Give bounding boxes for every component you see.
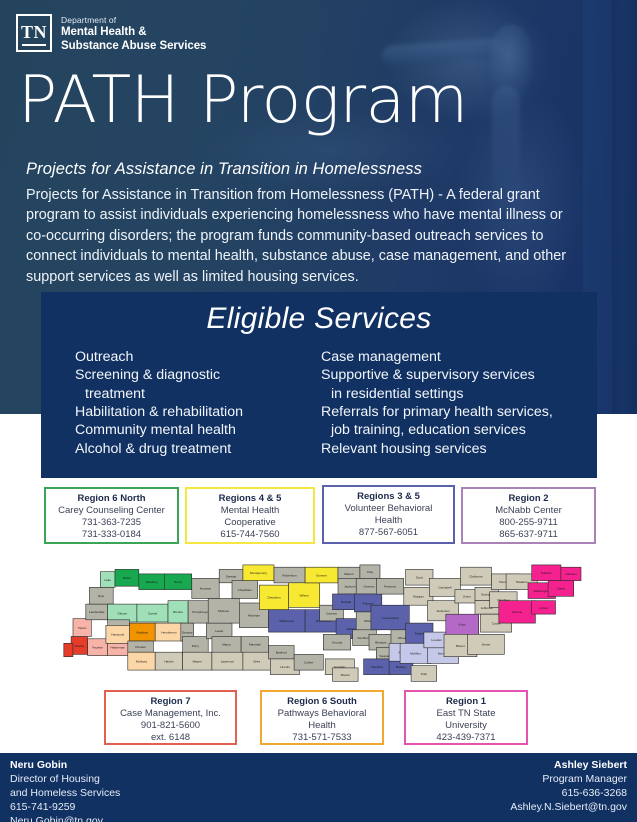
map-county-label: Claiborne <box>469 574 483 578</box>
map-county-label: Morgan <box>413 595 424 599</box>
map-county-label: Dyer <box>98 594 105 598</box>
provider-detail-line: Mental Health <box>187 505 313 517</box>
provider-detail-line: East TN State <box>406 708 526 720</box>
map-county-label: Tipton <box>78 626 87 630</box>
map-county-label: Cumberland <box>382 616 399 620</box>
provider-box[interactable]: Region 6 NorthCarey Counseling Center731… <box>44 487 179 544</box>
map-county-label: DeKalb <box>341 600 351 604</box>
map-county-label: Robertson <box>282 573 297 577</box>
map-county-label: Lawrence <box>221 660 235 664</box>
eligible-services-columns: OutreachScreening & diagnostictreatmentH… <box>41 336 597 458</box>
eligible-service-label: Screening & diagnostic <box>75 367 220 383</box>
map-county-label: Montgomery <box>250 571 268 575</box>
eligible-service-item: Supportive & supervisory servicesin resi… <box>321 366 597 403</box>
map-county-label: Sullivan <box>541 571 552 575</box>
map-county-label: Greene <box>512 610 523 614</box>
map-county-label: Chester <box>135 645 146 649</box>
contact-right-details: Program Manager615-636-3268Ashley.N.Sieb… <box>510 773 627 815</box>
map-county-label: Lauderdale <box>89 610 105 614</box>
map-county-label: Bradley <box>396 665 407 669</box>
eligible-service-item: Referrals for primary health services,jo… <box>321 403 597 440</box>
provider-detail-line: McNabb Center <box>463 505 594 517</box>
tn-mark-letters: TN <box>21 23 47 41</box>
eligible-service-label: Referrals for primary health services, <box>321 404 553 420</box>
map-county-label: Stewart <box>226 574 237 578</box>
map-county-label: Putnam <box>363 601 374 605</box>
provider-box[interactable]: Regions 4 & 5Mental HealthCooperative615… <box>185 487 315 544</box>
map-county-label: McNairy <box>136 660 148 664</box>
eligible-service-item: Community mental health <box>75 421 321 439</box>
eligible-service-item: Relevant housing services <box>321 440 597 458</box>
provider-region-name: Region 7 <box>106 696 235 708</box>
page-subtitle: Projects for Assistance in Transition in… <box>26 160 422 179</box>
map-county-label: Hickman <box>248 614 260 618</box>
map-county-label: Hardin <box>164 660 173 664</box>
map-county-label: Gibson <box>117 611 127 615</box>
contact-left-name: Neru Gobin <box>10 759 120 773</box>
map-county-label: Weakley <box>146 580 158 584</box>
map-county-label: Carroll <box>148 611 157 615</box>
eligible-service-label: Case management <box>321 349 441 365</box>
eligible-service-label: Supportive & supervisory services <box>321 367 535 383</box>
map-county-label: Madison <box>137 630 149 634</box>
map-county-label: Knox <box>459 623 467 627</box>
agency-logo: TN Department of Mental Health & Substan… <box>16 14 206 53</box>
map-county-label: Maury <box>222 643 231 647</box>
map-county-label: Union <box>463 595 471 599</box>
contact-left: Neru Gobin Director of Housingand Homele… <box>10 759 120 822</box>
map-county-label: Decatur <box>182 630 193 634</box>
provider-detail-line: Case Management, Inc. <box>106 708 235 720</box>
eligible-service-item: Screening & diagnostictreatment <box>75 366 321 403</box>
provider-region-name: Region 2 <box>463 493 594 505</box>
program-description: Projects for Assistance in Transition fr… <box>26 185 586 287</box>
map-county-label: Houston <box>200 587 212 591</box>
map-county-label: Macon <box>344 572 354 576</box>
provider-detail-line: Volunteer Behavioral <box>324 503 453 515</box>
provider-detail-line: ext. 6148 <box>106 732 235 744</box>
program-description-text: Projects for Assistance in Transition fr… <box>26 185 586 287</box>
map-county-label: Coffee <box>304 661 313 665</box>
map-county-label: Henry <box>174 580 183 584</box>
map-county-label: Obion <box>123 576 132 580</box>
map-county-label: Hawkins <box>516 580 528 584</box>
map-county-label: Polk <box>421 672 427 676</box>
provider-detail-line: 800-255-9711 <box>463 517 594 529</box>
map-county <box>64 643 73 656</box>
provider-box[interactable]: Region 7Case Management, Inc.901-821-560… <box>104 690 237 745</box>
contact-right: Ashley Siebert Program Manager615-636-32… <box>510 759 627 815</box>
map-county-label: Humphreys <box>192 610 208 614</box>
provider-region-name: Region 6 South <box>262 696 382 708</box>
map-county-label: Bedford <box>276 651 287 655</box>
provider-detail-line: 731-333-0184 <box>46 529 177 541</box>
page-title: PATH Program <box>18 68 468 133</box>
map-county-label: Henderson <box>161 630 176 634</box>
provider-detail-line: 877-567-6051 <box>324 527 453 539</box>
map-county-label: Williamson <box>279 619 294 623</box>
provider-detail-line: Pathways Behavioral <box>262 708 382 720</box>
map-county-label: Sumner <box>316 573 327 577</box>
map-county-label: Roane <box>415 632 424 636</box>
map-county-label: Dickson <box>218 609 229 613</box>
map-county-label: Shelby <box>75 644 85 648</box>
provider-detail-line: Carey Counseling Center <box>46 505 177 517</box>
contact-detail-line: Director of Housing <box>10 773 120 787</box>
map-county-label: Sevier <box>482 643 491 647</box>
tn-mark-underline <box>22 44 46 46</box>
map-county-label: Hardeman <box>110 646 125 650</box>
map-county-label: Perry <box>192 644 200 648</box>
eligible-service-label: Habilitation & rehabilitation <box>75 404 243 420</box>
map-county-label: Johnson <box>565 572 577 576</box>
eligible-service-label-continued: treatment <box>75 385 321 403</box>
eligible-service-label: Outreach <box>75 349 133 365</box>
contact-right-name: Ashley Siebert <box>510 759 627 773</box>
map-county-label: Scott <box>416 576 423 580</box>
provider-box[interactable]: Region 2McNabb Center800-255-9711865-637… <box>461 487 596 544</box>
eligible-service-label: Alcohol & drug treatment <box>75 441 231 457</box>
map-county-label: Carter <box>557 587 566 591</box>
contact-detail-line: and Homeless Services <box>10 787 120 801</box>
map-county-label: Davidson <box>268 596 281 600</box>
agency-name-block: Department of Mental Health & Substance … <box>61 14 206 53</box>
agency-dept-line: Department of <box>61 15 206 25</box>
eligible-services-heading: Eligible Services <box>41 292 597 336</box>
provider-box[interactable]: Region 1East TN StateUniversity423-439-7… <box>404 690 528 745</box>
provider-detail-line: 731-363-7235 <box>46 517 177 529</box>
map-county-label: Wayne <box>192 660 202 664</box>
eligible-service-item: Alcohol & drug treatment <box>75 440 321 458</box>
eligible-service-label: Community mental health <box>75 422 236 438</box>
eligible-services-right-column: Case managementSupportive & supervisory … <box>321 348 597 458</box>
eligible-service-item: Outreach <box>75 348 321 366</box>
map-county-label: Marion <box>341 673 351 677</box>
provider-detail-line: Cooperative <box>187 517 313 529</box>
map-county-label: Overton <box>363 585 374 589</box>
contact-detail-line: 615-636-3268 <box>510 787 627 801</box>
map-county-label: Haywood <box>111 633 124 637</box>
contact-left-details: Director of Housingand Homeless Services… <box>10 773 120 822</box>
map-county-label: Campbell <box>438 586 451 590</box>
map-county-label: Loudon <box>432 638 443 642</box>
provider-region-name: Regions 4 & 5 <box>187 493 313 505</box>
contact-detail-line: Neru.Gobin@tn.gov <box>10 815 120 822</box>
map-county-label: Benton <box>173 610 183 614</box>
agency-name-line-2: Substance Abuse Services <box>61 39 206 53</box>
provider-detail-line: 615-744-7560 <box>187 529 313 541</box>
agency-name-line-1: Mental Health & <box>61 25 206 39</box>
eligible-services-left-column: OutreachScreening & diagnostictreatmentH… <box>75 348 321 458</box>
map-county-label: Washington <box>534 589 551 593</box>
tn-state-mark-icon: TN <box>16 14 52 52</box>
provider-detail-line: University <box>406 720 526 732</box>
map-county-label: Hamilton <box>371 665 383 669</box>
map-county-label: Bledsoe <box>375 640 386 644</box>
eligible-service-item: Habilitation & rehabilitation <box>75 403 321 421</box>
map-county-label: Giles <box>253 660 261 664</box>
map-county-label: Marshall <box>249 643 261 647</box>
contact-detail-line: 615-741-9259 <box>10 801 120 815</box>
provider-detail-line: 423-439-7371 <box>406 732 526 744</box>
provider-box[interactable]: Regions 3 & 5Volunteer BehavioralHealth8… <box>322 485 455 544</box>
contact-detail-line: Program Manager <box>510 773 627 787</box>
map-county-label: Blount <box>456 644 465 648</box>
provider-region-name: Regions 3 & 5 <box>324 491 453 503</box>
tennessee-county-map: ShelbyFayetteHardemanTiptonLauderdaleDye… <box>60 552 590 684</box>
map-county-label: Cannon <box>326 611 337 615</box>
provider-detail-line: 865-637-9711 <box>463 529 594 541</box>
map-county-label: Cheatham <box>238 588 253 592</box>
eligible-services-panel: Eligible Services OutreachScreening & di… <box>41 292 597 478</box>
path-program-poster: TN Department of Mental Health & Substan… <box>0 0 637 822</box>
provider-detail-line: 731-571-7533 <box>262 732 382 744</box>
provider-detail-line: Health <box>324 515 453 527</box>
eligible-service-label-continued: job training, education services <box>321 421 597 439</box>
provider-region-name: Region 1 <box>406 696 526 708</box>
map-county-label: Lincoln <box>280 665 290 669</box>
contact-footer: Neru Gobin Director of Housingand Homele… <box>0 753 637 822</box>
map-county-label: Unicoi <box>539 606 548 610</box>
eligible-service-label: Relevant housing services <box>321 441 487 457</box>
map-county-label: McMinn <box>410 652 421 656</box>
provider-detail-line: Health <box>262 720 382 732</box>
eligible-service-label-continued: in residential settings <box>321 385 597 403</box>
map-county-label: Fentress <box>384 585 396 589</box>
map-county-label: Lake <box>104 578 111 582</box>
eligible-service-item: Case management <box>321 348 597 366</box>
map-county-label: Anderson <box>436 609 450 613</box>
map-county-label: Wilson <box>300 594 310 598</box>
map-county-label: Rhea <box>398 636 406 640</box>
map-county-label: Grundy <box>332 640 343 644</box>
map-county-label: Clay <box>367 570 374 574</box>
provider-box[interactable]: Region 6 SouthPathways BehavioralHealth7… <box>260 690 384 745</box>
map-county-label: Lewis <box>215 629 223 633</box>
contact-detail-line: Ashley.N.Siebert@tn.gov <box>510 801 627 815</box>
tennessee-map-svg: ShelbyFayetteHardemanTiptonLauderdaleDye… <box>60 552 590 684</box>
provider-detail-line: 901-821-5600 <box>106 720 235 732</box>
map-county-label: Jackson <box>344 585 356 589</box>
map-county-label: Fayette <box>92 646 103 650</box>
provider-region-name: Region 6 North <box>46 493 177 505</box>
